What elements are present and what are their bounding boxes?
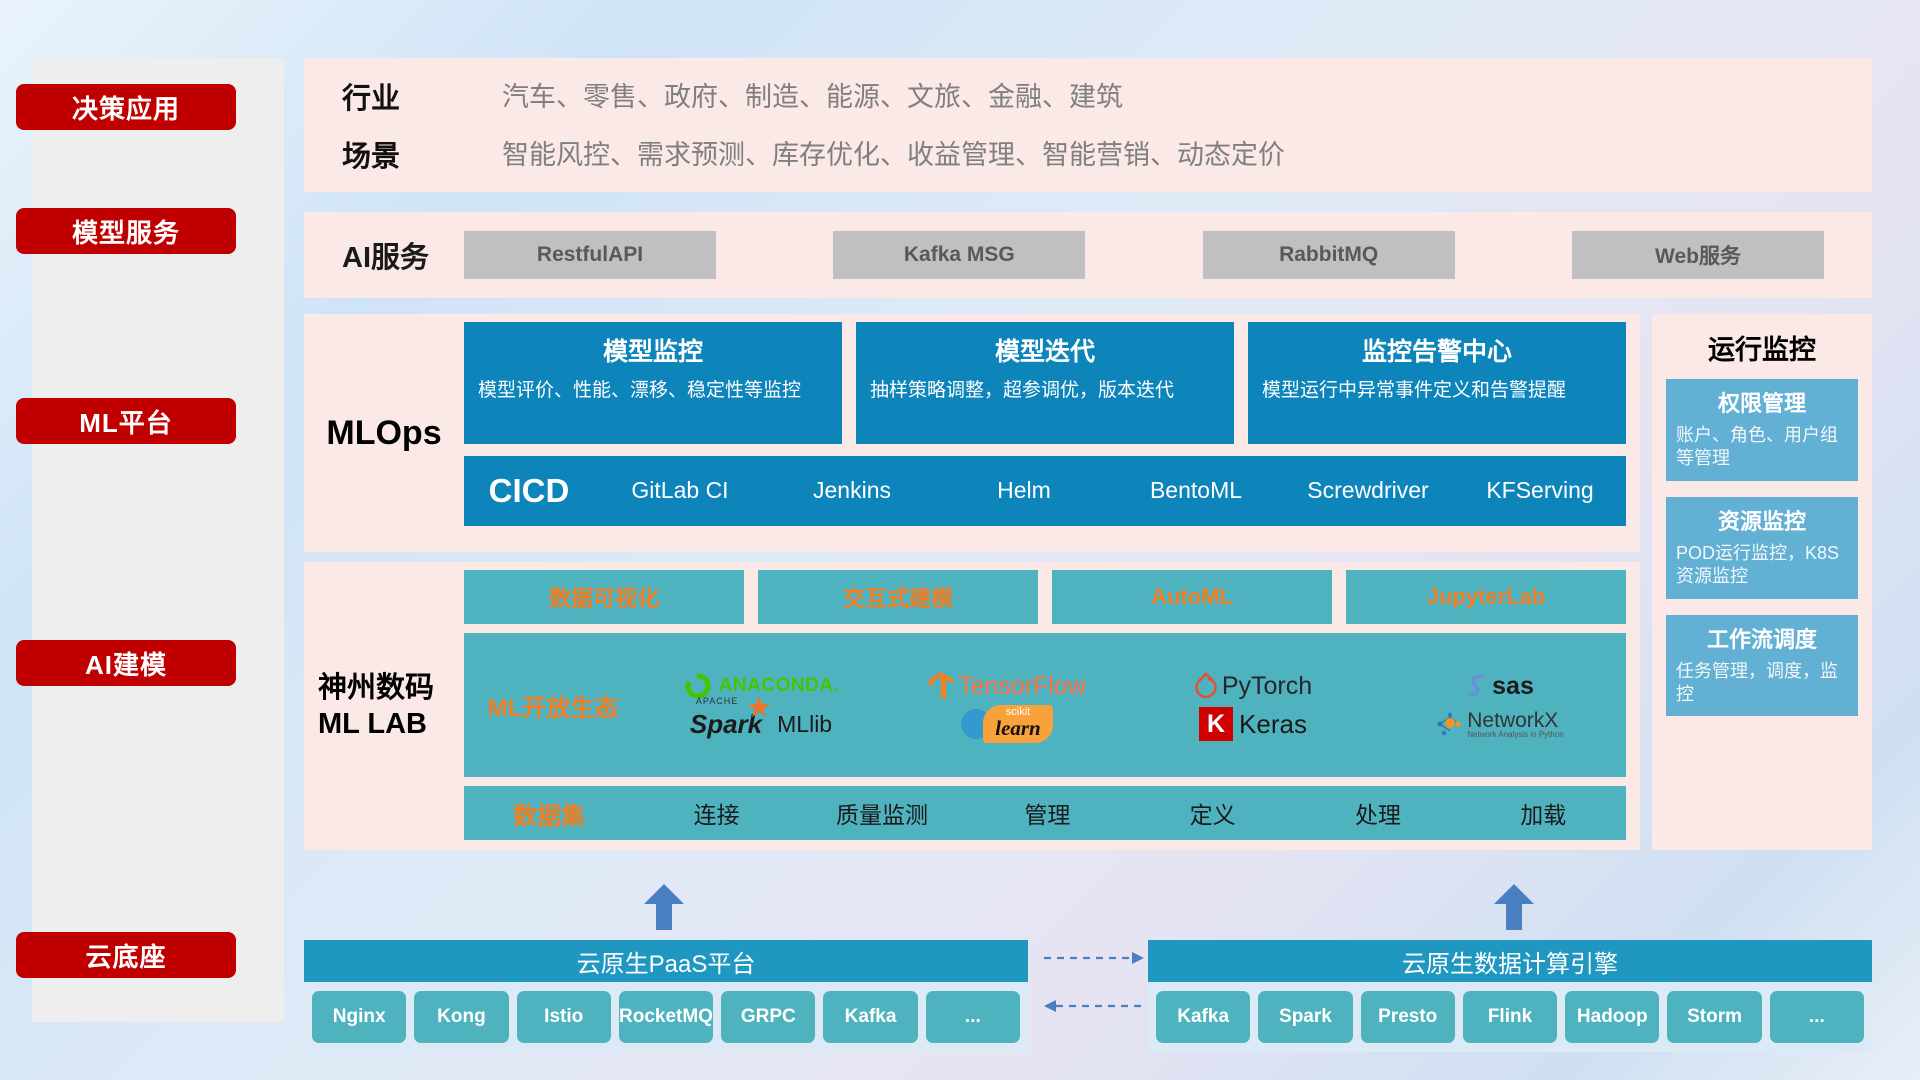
monitor-card-resource[interactable]: 资源监控 POD运行监控，K8S资源监控 bbox=[1666, 497, 1858, 599]
ml-lab-band: 神州数码 ML LAB 数据可视化 交互式建模 AutoML JupyterLa… bbox=[304, 562, 1640, 850]
engine-chip-storm[interactable]: Storm bbox=[1667, 991, 1761, 1043]
ml-lab-label: 神州数码 ML LAB bbox=[304, 562, 464, 850]
sas-logo: sas bbox=[1464, 672, 1534, 701]
sidebar-item-label: AI建模 bbox=[85, 645, 167, 682]
layer-rail bbox=[32, 58, 284, 1022]
sidebar-item-label: 云底座 bbox=[85, 937, 166, 974]
spark-mllib-logo: APACHE Spark MLlib bbox=[690, 709, 832, 740]
tool-interactive-modeling[interactable]: 交互式建模 bbox=[758, 570, 1038, 624]
service-button-web-service[interactable]: Web服务 bbox=[1572, 231, 1824, 279]
engine-chip-hadoop[interactable]: Hadoop bbox=[1565, 991, 1659, 1043]
sidebar-item-ml-platform[interactable]: ML平台 bbox=[16, 398, 236, 444]
paas-chip-nginx[interactable]: Nginx bbox=[312, 991, 406, 1043]
card-title: 模型迭代 bbox=[870, 332, 1220, 368]
sidebar-item-label: 决策应用 bbox=[72, 89, 180, 126]
networkx-tagline: Network Analysis in Python bbox=[1467, 731, 1564, 739]
card-desc: 模型运行中异常事件定义和告警提醒 bbox=[1262, 378, 1612, 404]
mlops-label: MLOps bbox=[304, 314, 464, 552]
dataset-item-load[interactable]: 加载 bbox=[1461, 796, 1626, 830]
monitor-card-permission[interactable]: 权限管理 账户、角色、用户组等管理 bbox=[1666, 379, 1858, 481]
sidebar-item-decision-app[interactable]: 决策应用 bbox=[16, 84, 236, 130]
keras-label: Keras bbox=[1239, 709, 1307, 740]
tensorflow-label: TensorFlow bbox=[958, 672, 1086, 701]
mlops-card-alert-center[interactable]: 监控告警中心 模型运行中异常事件定义和告警提醒 bbox=[1248, 322, 1626, 444]
ai-service-band: AI服务 RestfulAPI Kafka MSG RabbitMQ Web服务 bbox=[304, 212, 1872, 298]
service-button-rabbitmq[interactable]: RabbitMQ bbox=[1203, 231, 1455, 279]
card-title: 资源监控 bbox=[1676, 504, 1848, 536]
sidebar-item-label: ML平台 bbox=[79, 403, 173, 440]
cloud-native-paas-block: 云原生PaaS平台 Nginx Kong Istio RocketMQ GRPC… bbox=[304, 940, 1028, 1052]
card-title: 模型监控 bbox=[478, 332, 828, 368]
cicd-row: CICD GitLab CI Jenkins Helm BentoML Scre… bbox=[464, 456, 1626, 526]
ml-lab-label-line1: 神州数码 bbox=[318, 670, 464, 706]
sidebar-item-label: 模型服务 bbox=[72, 213, 180, 250]
sidebar-item-cloud-base[interactable]: 云底座 bbox=[16, 932, 236, 978]
engine-chip-spark[interactable]: Spark bbox=[1258, 991, 1352, 1043]
mlops-card-model-iteration[interactable]: 模型迭代 抽样策略调整，超参调优，版本迭代 bbox=[856, 322, 1234, 444]
mlops-band: MLOps 模型监控 模型评价、性能、漂移、稳定性等监控 模型迭代 抽样策略调整… bbox=[304, 314, 1640, 552]
networkx-logo: NetworkX Network Analysis in Python bbox=[1434, 710, 1564, 739]
arrow-up-paas bbox=[642, 884, 686, 930]
mllib-label: MLlib bbox=[777, 711, 832, 738]
engine-chip-presto[interactable]: Presto bbox=[1361, 991, 1455, 1043]
pytorch-label: PyTorch bbox=[1222, 672, 1312, 701]
service-button-kafka-msg[interactable]: Kafka MSG bbox=[833, 231, 1085, 279]
paas-chip-kong[interactable]: Kong bbox=[414, 991, 508, 1043]
dataset-row: 数据集 连接 质量监测 管理 定义 处理 加载 bbox=[464, 786, 1626, 840]
cicd-item-screwdriver[interactable]: Screwdriver bbox=[1282, 478, 1454, 503]
industry-label: 行业 bbox=[342, 75, 502, 117]
tool-jupyterlab[interactable]: JupyterLab bbox=[1346, 570, 1626, 624]
paas-chip-istio[interactable]: Istio bbox=[517, 991, 611, 1043]
dataset-item-connect[interactable]: 连接 bbox=[634, 796, 799, 830]
anaconda-label: ANACONDA. bbox=[719, 675, 840, 697]
dataset-item-define[interactable]: 定义 bbox=[1130, 796, 1295, 830]
cicd-item-gitlab-ci[interactable]: GitLab CI bbox=[594, 478, 766, 503]
dataset-item-manage[interactable]: 管理 bbox=[965, 796, 1130, 830]
paas-chip-rocketmq[interactable]: RocketMQ bbox=[619, 991, 713, 1043]
cloud-native-data-engine-block: 云原生数据计算引擎 Kafka Spark Presto Flink Hadoo… bbox=[1148, 940, 1872, 1052]
card-desc: 模型评价、性能、漂移、稳定性等监控 bbox=[478, 378, 828, 404]
bidirectional-dashed-connector bbox=[1040, 948, 1140, 1018]
monitor-card-workflow[interactable]: 工作流调度 任务管理，调度，监控 bbox=[1666, 615, 1858, 717]
paas-chip-grpc[interactable]: GRPC bbox=[721, 991, 815, 1043]
service-button-restfulapi[interactable]: RestfulAPI bbox=[464, 231, 716, 279]
industry-values: 汽车、零售、政府、制造、能源、文旅、金融、建筑 bbox=[502, 75, 1872, 117]
cicd-item-jenkins[interactable]: Jenkins bbox=[766, 478, 938, 503]
cicd-item-helm[interactable]: Helm bbox=[938, 478, 1110, 503]
dataset-title: 数据集 bbox=[464, 796, 634, 831]
scikit-learn-logo: scikit learn bbox=[961, 705, 1053, 743]
paas-chip-kafka[interactable]: Kafka bbox=[823, 991, 917, 1043]
runtime-monitor-title: 运行监控 bbox=[1666, 328, 1858, 367]
cicd-item-kfserving[interactable]: KFServing bbox=[1454, 478, 1626, 503]
ai-service-label: AI服务 bbox=[304, 234, 464, 276]
card-title: 监控告警中心 bbox=[1262, 332, 1612, 368]
arrow-up-data-engine bbox=[1492, 884, 1536, 930]
card-title: 权限管理 bbox=[1676, 386, 1848, 418]
scenario-label: 场景 bbox=[342, 133, 502, 175]
tensorflow-logo: TensorFlow bbox=[928, 671, 1086, 701]
ml-lab-label-line2: ML LAB bbox=[318, 706, 464, 742]
paas-chip-more[interactable]: ... bbox=[926, 991, 1020, 1043]
dataset-item-quality[interactable]: 质量监测 bbox=[799, 796, 964, 830]
keras-logo: K Keras bbox=[1199, 707, 1307, 741]
card-title: 工作流调度 bbox=[1676, 622, 1848, 654]
engine-chip-kafka[interactable]: Kafka bbox=[1156, 991, 1250, 1043]
networkx-label: NetworkX bbox=[1467, 710, 1564, 731]
paas-title: 云原生PaaS平台 bbox=[304, 940, 1028, 982]
sidebar-item-ai-modeling[interactable]: AI建模 bbox=[16, 640, 236, 686]
pytorch-logo: PyTorch bbox=[1194, 672, 1312, 701]
cicd-item-bentoml[interactable]: BentoML bbox=[1110, 478, 1282, 503]
engine-chip-flink[interactable]: Flink bbox=[1463, 991, 1557, 1043]
scenario-values: 智能风控、需求预测、库存优化、收益管理、智能营销、动态定价 bbox=[502, 133, 1872, 175]
card-desc: POD运行监控，K8S资源监控 bbox=[1676, 542, 1848, 589]
runtime-monitor-panel: 运行监控 权限管理 账户、角色、用户组等管理 资源监控 POD运行监控，K8S资… bbox=[1652, 314, 1872, 850]
tool-automl[interactable]: AutoML bbox=[1052, 570, 1332, 624]
ecosystem-title: ML开放生态 bbox=[468, 688, 638, 723]
data-engine-title: 云原生数据计算引擎 bbox=[1148, 940, 1872, 982]
card-desc: 账户、角色、用户组等管理 bbox=[1676, 424, 1848, 471]
ml-open-ecosystem: ML开放生态 ANACONDA. TensorFlow PyTorch bbox=[464, 633, 1626, 777]
sas-label: sas bbox=[1492, 672, 1534, 701]
tool-data-visualization[interactable]: 数据可视化 bbox=[464, 570, 744, 624]
card-desc: 抽样策略调整，超参调优，版本迭代 bbox=[870, 378, 1220, 404]
mlops-card-model-monitoring[interactable]: 模型监控 模型评价、性能、漂移、稳定性等监控 bbox=[464, 322, 842, 444]
industry-scenario-band: 行业 汽车、零售、政府、制造、能源、文旅、金融、建筑 场景 智能风控、需求预测、… bbox=[304, 58, 1872, 192]
card-desc: 任务管理，调度，监控 bbox=[1676, 660, 1848, 707]
sidebar-item-model-service[interactable]: 模型服务 bbox=[16, 208, 236, 254]
engine-chip-more[interactable]: ... bbox=[1770, 991, 1864, 1043]
dataset-item-process[interactable]: 处理 bbox=[1295, 796, 1460, 830]
cicd-title: CICD bbox=[464, 472, 594, 510]
